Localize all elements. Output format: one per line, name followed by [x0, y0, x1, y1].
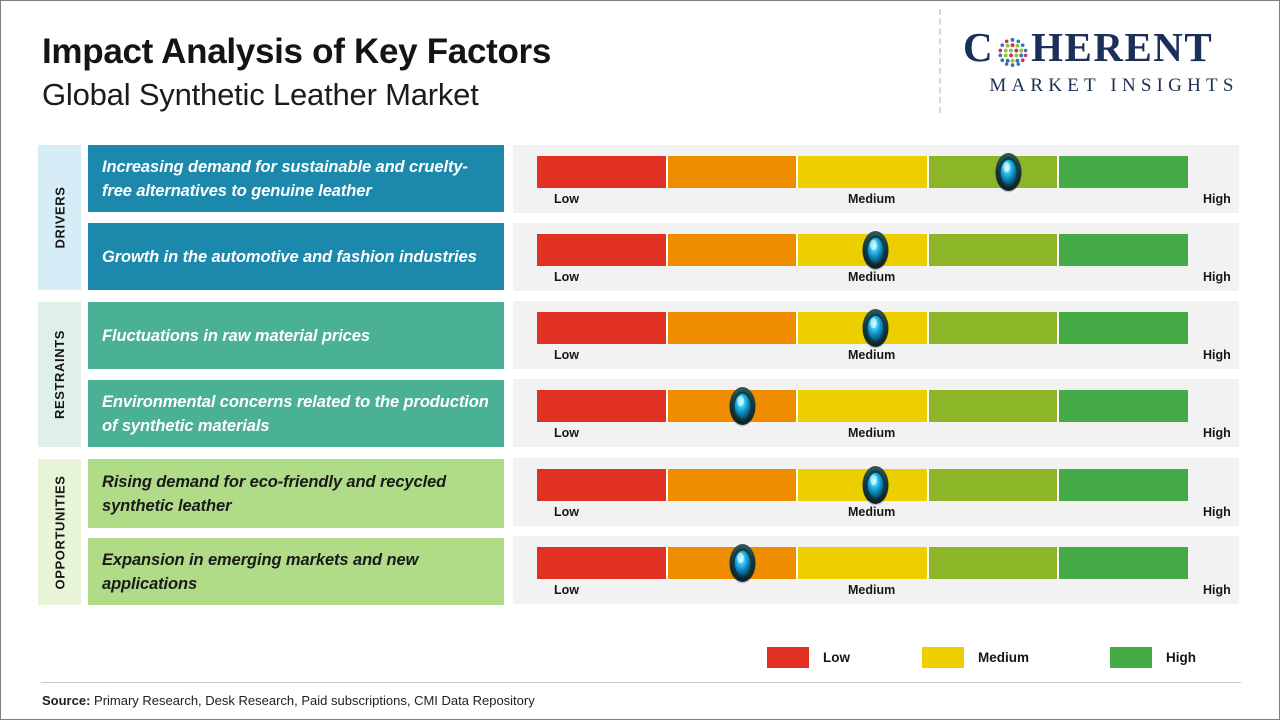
gauge-segment-2 [668, 390, 799, 422]
gauge-segment-4 [929, 234, 1060, 266]
gauge-label-medium: Medium [848, 270, 895, 284]
gauge-segment-2 [668, 234, 799, 266]
gauge-segment-3 [798, 312, 929, 344]
gauge-segment-5 [1059, 469, 1188, 501]
gauge-segment-2 [668, 156, 799, 188]
impact-gauge-row: LowMediumHigh [513, 379, 1239, 447]
impact-gauge-row: LowMediumHigh [513, 145, 1239, 213]
gauge-segment-2 [668, 312, 799, 344]
gauge-scale-labels: LowMediumHigh [537, 348, 1237, 368]
gauge-segment-2 [668, 547, 799, 579]
header: Impact Analysis of Key Factors Global Sy… [1, 1, 1280, 131]
header-divider [939, 9, 941, 113]
impact-gauge-bar [537, 390, 1188, 422]
gauge-label-medium: Medium [848, 583, 895, 597]
gauge-segment-5 [1059, 390, 1188, 422]
gauge-label-medium: Medium [848, 192, 895, 206]
logo-wordmark-rest: HERENT [1031, 23, 1213, 71]
impact-gauge-row: LowMediumHigh [513, 458, 1239, 526]
gauge-segment-4 [929, 312, 1060, 344]
footer-divider [41, 682, 1241, 683]
logo-wordmark: C [963, 23, 1263, 71]
impact-gauge-bar [537, 312, 1188, 344]
gauge-segment-1 [537, 469, 668, 501]
source-label: Source: [42, 693, 90, 708]
company-logo: C [963, 23, 1263, 101]
source-text: Primary Research, Desk Research, Paid su… [90, 693, 534, 708]
factor-card: Increasing demand for sustainable and cr… [88, 145, 504, 212]
gauge-label-low: Low [554, 426, 579, 440]
gauge-label-high: High [1203, 270, 1231, 284]
impact-gauge-bar [537, 234, 1188, 266]
title-block: Impact Analysis of Key Factors Global Sy… [42, 29, 902, 116]
impact-gauge-bar [537, 547, 1188, 579]
gauge-scale-labels: LowMediumHigh [537, 270, 1237, 290]
factor-card: Expansion in emerging markets and new ap… [88, 538, 504, 605]
gauge-scale-labels: LowMediumHigh [537, 192, 1237, 212]
gauge-segment-1 [537, 547, 668, 579]
factor-text: Increasing demand for sustainable and cr… [102, 155, 490, 203]
gauge-segment-1 [537, 234, 668, 266]
category-label-text: RESTRAINTS [52, 330, 67, 419]
legend-label-high: High [1166, 650, 1196, 665]
logo-letter-c: C [963, 23, 994, 71]
legend-item-medium: Medium [922, 646, 1029, 668]
category-label-restraints: RESTRAINTS [38, 302, 81, 447]
gauge-segment-2 [668, 469, 799, 501]
gauge-segment-5 [1059, 312, 1188, 344]
factor-text: Fluctuations in raw material prices [102, 324, 370, 348]
category-label-opportunities: OPPORTUNITIES [38, 459, 81, 605]
gauge-segment-3 [798, 234, 929, 266]
factor-card: Environmental concerns related to the pr… [88, 380, 504, 447]
logo-tagline: MARKET INSIGHTS [966, 75, 1262, 97]
gauge-segment-5 [1059, 156, 1188, 188]
factor-card: Rising demand for eco-friendly and recyc… [88, 459, 504, 528]
factor-text: Rising demand for eco-friendly and recyc… [102, 470, 490, 518]
gauge-scale-labels: LowMediumHigh [537, 583, 1237, 603]
globe-dot-sphere-icon [995, 31, 1030, 66]
legend-label-low: Low [823, 650, 850, 665]
gauge-scale-labels: LowMediumHigh [537, 426, 1237, 446]
gauge-segment-4 [929, 390, 1060, 422]
gauge-label-high: High [1203, 192, 1231, 206]
gauge-label-high: High [1203, 505, 1231, 519]
gauge-label-low: Low [554, 192, 579, 206]
impact-gauge-row: LowMediumHigh [513, 536, 1239, 604]
gauge-segment-3 [798, 547, 929, 579]
legend-swatch-medium [922, 647, 964, 668]
impact-gauge-bar [537, 469, 1188, 501]
legend-swatch-low [767, 647, 809, 668]
gauge-label-medium: Medium [848, 426, 895, 440]
gauge-label-high: High [1203, 583, 1231, 597]
gauge-label-low: Low [554, 505, 579, 519]
gauge-segment-4 [929, 547, 1060, 579]
source-note: Source: Primary Research, Desk Research,… [42, 693, 535, 708]
gauge-segment-3 [798, 469, 929, 501]
page-title: Impact Analysis of Key Factors [42, 29, 902, 74]
gauge-segment-4 [929, 156, 1060, 188]
factor-text: Growth in the automotive and fashion ind… [102, 245, 477, 269]
factor-card: Fluctuations in raw material prices [88, 302, 504, 369]
gauge-label-low: Low [554, 348, 579, 362]
gauge-label-high: High [1203, 426, 1231, 440]
page-subtitle: Global Synthetic Leather Market [42, 74, 902, 116]
gauge-label-low: Low [554, 583, 579, 597]
infographic-frame: Impact Analysis of Key Factors Global Sy… [0, 0, 1280, 720]
gauge-segment-3 [798, 390, 929, 422]
gauge-segment-1 [537, 312, 668, 344]
gauge-segment-4 [929, 469, 1060, 501]
factor-card: Growth in the automotive and fashion ind… [88, 223, 504, 290]
gauge-scale-labels: LowMediumHigh [537, 505, 1237, 525]
factor-text: Environmental concerns related to the pr… [102, 390, 490, 438]
gauge-segment-1 [537, 156, 668, 188]
category-label-text: OPPORTUNITIES [52, 475, 67, 589]
impact-gauge-row: LowMediumHigh [513, 223, 1239, 291]
impact-gauge-bar [537, 156, 1188, 188]
gauge-segment-1 [537, 390, 668, 422]
gauge-label-low: Low [554, 270, 579, 284]
gauge-segment-5 [1059, 234, 1188, 266]
gauge-label-high: High [1203, 348, 1231, 362]
impact-gauge-row: LowMediumHigh [513, 301, 1239, 369]
legend-label-medium: Medium [978, 650, 1029, 665]
legend-swatch-high [1110, 647, 1152, 668]
gauge-segment-5 [1059, 547, 1188, 579]
legend-item-low: Low [767, 646, 850, 668]
gauge-label-medium: Medium [848, 348, 895, 362]
gauge-label-medium: Medium [848, 505, 895, 519]
legend-item-high: High [1110, 646, 1196, 668]
factor-text: Expansion in emerging markets and new ap… [102, 548, 490, 596]
legend: Low Medium High [767, 646, 1187, 668]
category-label-drivers: DRIVERS [38, 145, 81, 290]
gauge-segment-3 [798, 156, 929, 188]
category-label-text: DRIVERS [52, 187, 67, 249]
